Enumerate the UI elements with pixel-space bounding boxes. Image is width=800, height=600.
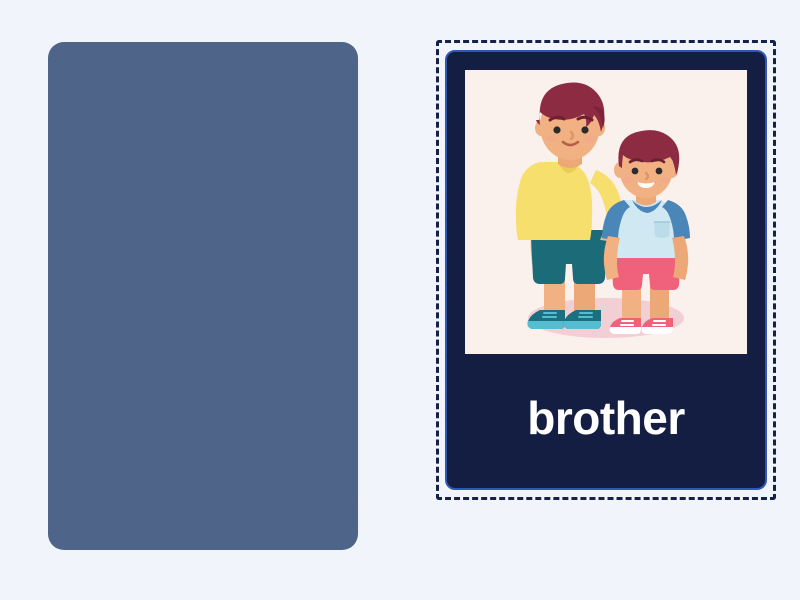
flashcard-face[interactable]: brother [445, 50, 767, 490]
flashcard-word: brother [447, 354, 765, 488]
deck-top-card[interactable] [48, 42, 358, 504]
flashcard-illustration [465, 70, 747, 354]
card-deck[interactable] [48, 42, 358, 550]
scene: brother [0, 0, 800, 600]
flashcard[interactable]: brother [436, 40, 776, 500]
two-brothers-illustration [465, 70, 747, 354]
